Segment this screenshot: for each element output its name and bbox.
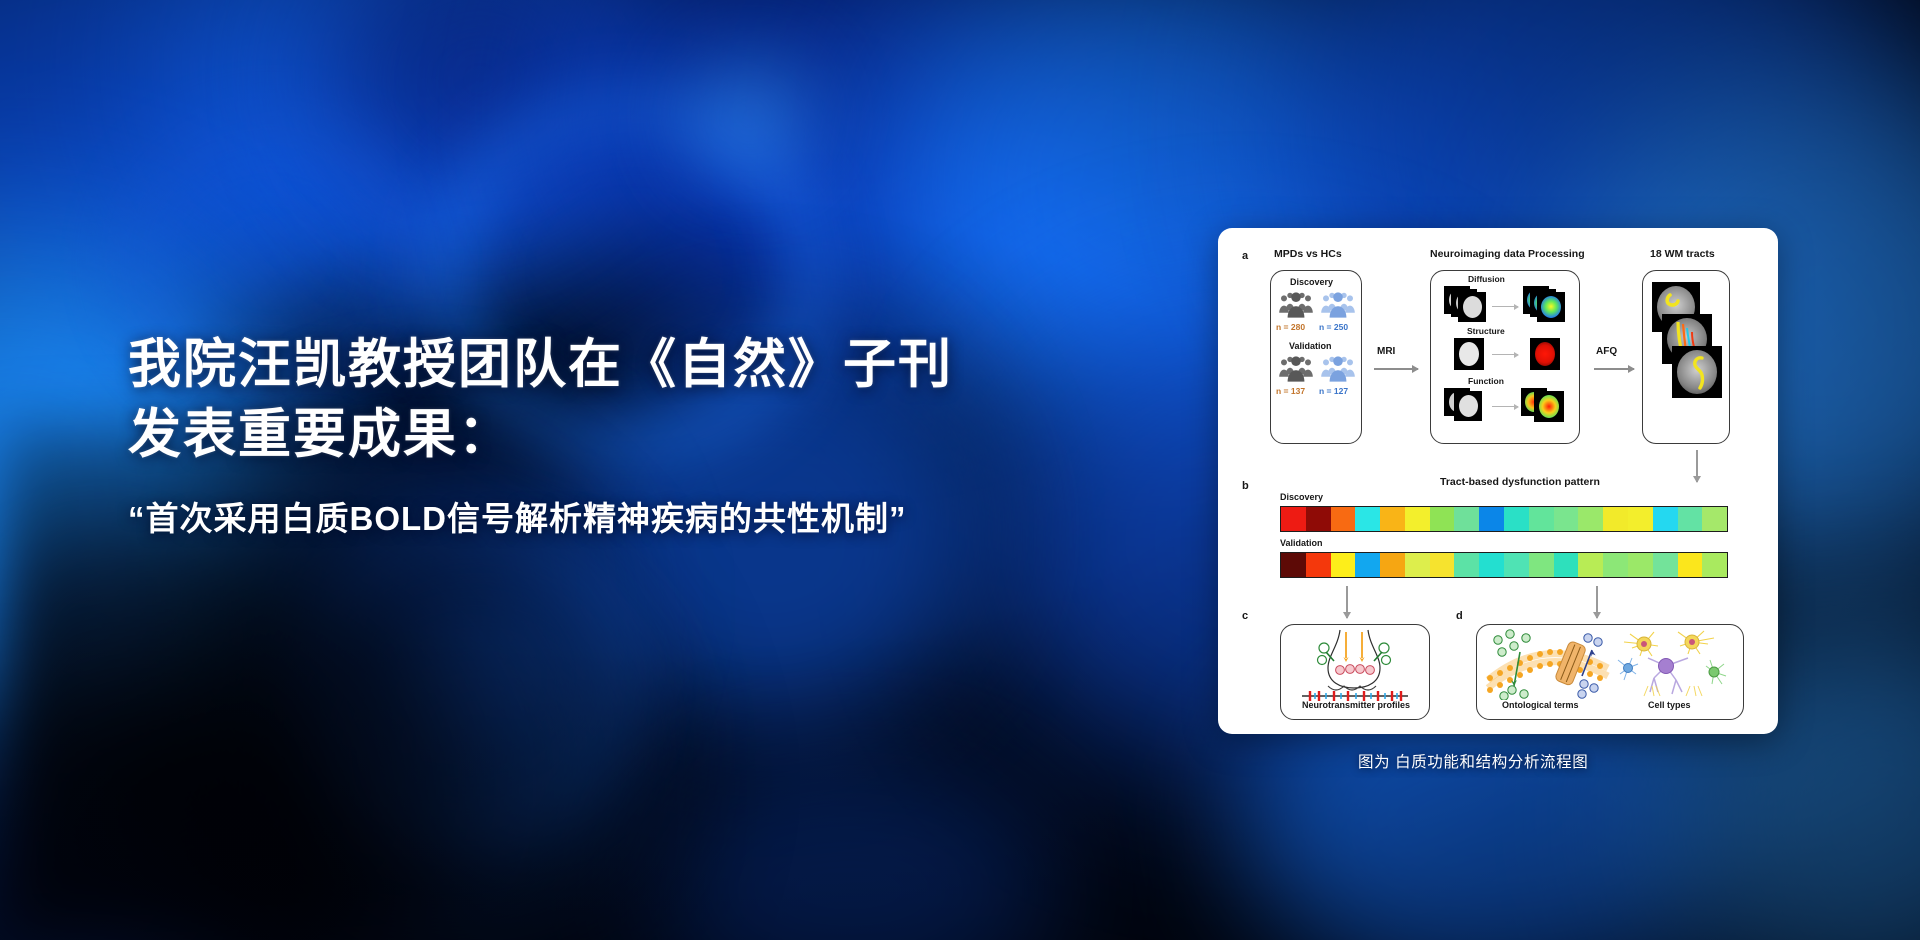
panel-d-label-0: Ontological terms bbox=[1502, 700, 1579, 710]
tract-cell bbox=[1603, 553, 1628, 577]
panel-a-letter: a bbox=[1242, 250, 1248, 262]
arrow-bars-to-panel-d bbox=[1596, 586, 1598, 618]
tract-bar-discovery bbox=[1280, 506, 1728, 532]
tract-cell bbox=[1628, 507, 1653, 531]
arrow-function bbox=[1492, 406, 1518, 407]
tract-cell bbox=[1479, 553, 1504, 577]
tract-cell bbox=[1554, 553, 1579, 577]
tract-cell bbox=[1331, 507, 1356, 531]
group-0-controls-n: n = 250 bbox=[1319, 322, 1348, 332]
arrow-bars-to-panel-c bbox=[1346, 586, 1348, 618]
panel-a-tracts-title: 18 WM tracts bbox=[1650, 248, 1715, 260]
panel-a-cohort-title: MPDs vs HCs bbox=[1274, 248, 1342, 260]
tract-bar-validation bbox=[1280, 552, 1728, 578]
tract-cell bbox=[1405, 553, 1430, 577]
tract-cell bbox=[1331, 553, 1356, 577]
tract-cell bbox=[1653, 553, 1678, 577]
panel-d-letter: d bbox=[1456, 610, 1463, 622]
cell-types-diagram bbox=[1614, 628, 1736, 700]
tract-cell bbox=[1281, 553, 1306, 577]
tract-cell bbox=[1702, 553, 1727, 577]
panel-b-title: Tract-based dysfunction pattern bbox=[1440, 476, 1600, 488]
panel-b-letter: b bbox=[1242, 480, 1249, 492]
headline-subtitle: “首次采用白质BOLD信号解析精神疾病的共性机制” bbox=[128, 492, 1128, 540]
tract-cell bbox=[1554, 507, 1579, 531]
tract-cell bbox=[1281, 507, 1306, 531]
group-1-patients-n: n = 137 bbox=[1276, 386, 1305, 396]
figure-caption: 图为 白质功能和结构分析流程图 bbox=[1358, 750, 1588, 772]
group-0-name: Discovery bbox=[1290, 277, 1333, 287]
panel-c-label: Neurotransmitter profiles bbox=[1302, 700, 1410, 710]
tract-cell bbox=[1678, 553, 1703, 577]
tract-cell bbox=[1678, 507, 1703, 531]
arrow-tracts-to-bars bbox=[1696, 450, 1698, 482]
panel-c-letter: c bbox=[1242, 610, 1248, 622]
group-1-controls-n: n = 127 bbox=[1319, 386, 1348, 396]
tract-cell bbox=[1405, 507, 1430, 531]
modality-label-diffusion: Diffusion bbox=[1468, 274, 1505, 284]
figure-card: a MPDs vs HCs Discovery n = 280 bbox=[1218, 228, 1778, 734]
tract-cell bbox=[1306, 553, 1331, 577]
tract-cell bbox=[1578, 507, 1603, 531]
tract-cell bbox=[1578, 553, 1603, 577]
tract-cell bbox=[1380, 507, 1405, 531]
group-1-name: Validation bbox=[1289, 341, 1332, 351]
headline-block: 我院汪凯教授团队在《自然》子刊 发表重要成果： “首次采用白质BOLD信号解析精… bbox=[128, 330, 1128, 540]
tract-cell bbox=[1355, 507, 1380, 531]
tract-cell bbox=[1306, 507, 1331, 531]
headline-line-1: 我院汪凯教授团队在《自然》子刊 bbox=[128, 330, 1128, 400]
tract-cell bbox=[1628, 553, 1653, 577]
tract-cell bbox=[1603, 507, 1628, 531]
arrow-structure bbox=[1492, 354, 1518, 355]
tract-cell bbox=[1430, 507, 1455, 531]
synapse-diagram bbox=[1288, 628, 1420, 702]
banner-stage: 我院汪凯教授团队在《自然》子刊 发表重要成果： “首次采用白质BOLD信号解析精… bbox=[0, 0, 1920, 940]
tract-cell bbox=[1504, 553, 1529, 577]
tract-cell bbox=[1380, 553, 1405, 577]
group-0-patients-n: n = 280 bbox=[1276, 322, 1305, 332]
tract-cell bbox=[1529, 507, 1554, 531]
arrow-afq bbox=[1594, 368, 1634, 370]
controls-icon-validation bbox=[1320, 354, 1356, 384]
arrow-label-mri: MRI bbox=[1377, 346, 1395, 357]
tract-cell bbox=[1702, 507, 1727, 531]
arrow-diffusion bbox=[1492, 306, 1518, 307]
tract-cell bbox=[1504, 507, 1529, 531]
patients-icon-validation bbox=[1278, 354, 1314, 384]
bar-row-1-label: Validation bbox=[1280, 538, 1323, 548]
panel-a-processing-title: Neuroimaging data Processing bbox=[1430, 248, 1585, 260]
controls-icon-discovery bbox=[1320, 290, 1356, 320]
arrow-label-afq: AFQ bbox=[1596, 346, 1617, 357]
tract-cell bbox=[1529, 553, 1554, 577]
tract-cell bbox=[1454, 553, 1479, 577]
membrane-transport-diagram bbox=[1484, 628, 1614, 700]
arrow-mri bbox=[1374, 368, 1418, 370]
headline-line-2: 发表重要成果： bbox=[128, 400, 1128, 470]
panel-d-label-1: Cell types bbox=[1648, 700, 1691, 710]
patients-icon-discovery bbox=[1278, 290, 1314, 320]
tract-cell bbox=[1430, 553, 1455, 577]
tract-cell bbox=[1454, 507, 1479, 531]
tract-cell bbox=[1355, 553, 1380, 577]
tract-cell bbox=[1479, 507, 1504, 531]
tract-cell bbox=[1653, 507, 1678, 531]
bar-row-0-label: Discovery bbox=[1280, 492, 1323, 502]
modality-label-function: Function bbox=[1468, 376, 1504, 386]
modality-label-structure: Structure bbox=[1467, 326, 1505, 336]
